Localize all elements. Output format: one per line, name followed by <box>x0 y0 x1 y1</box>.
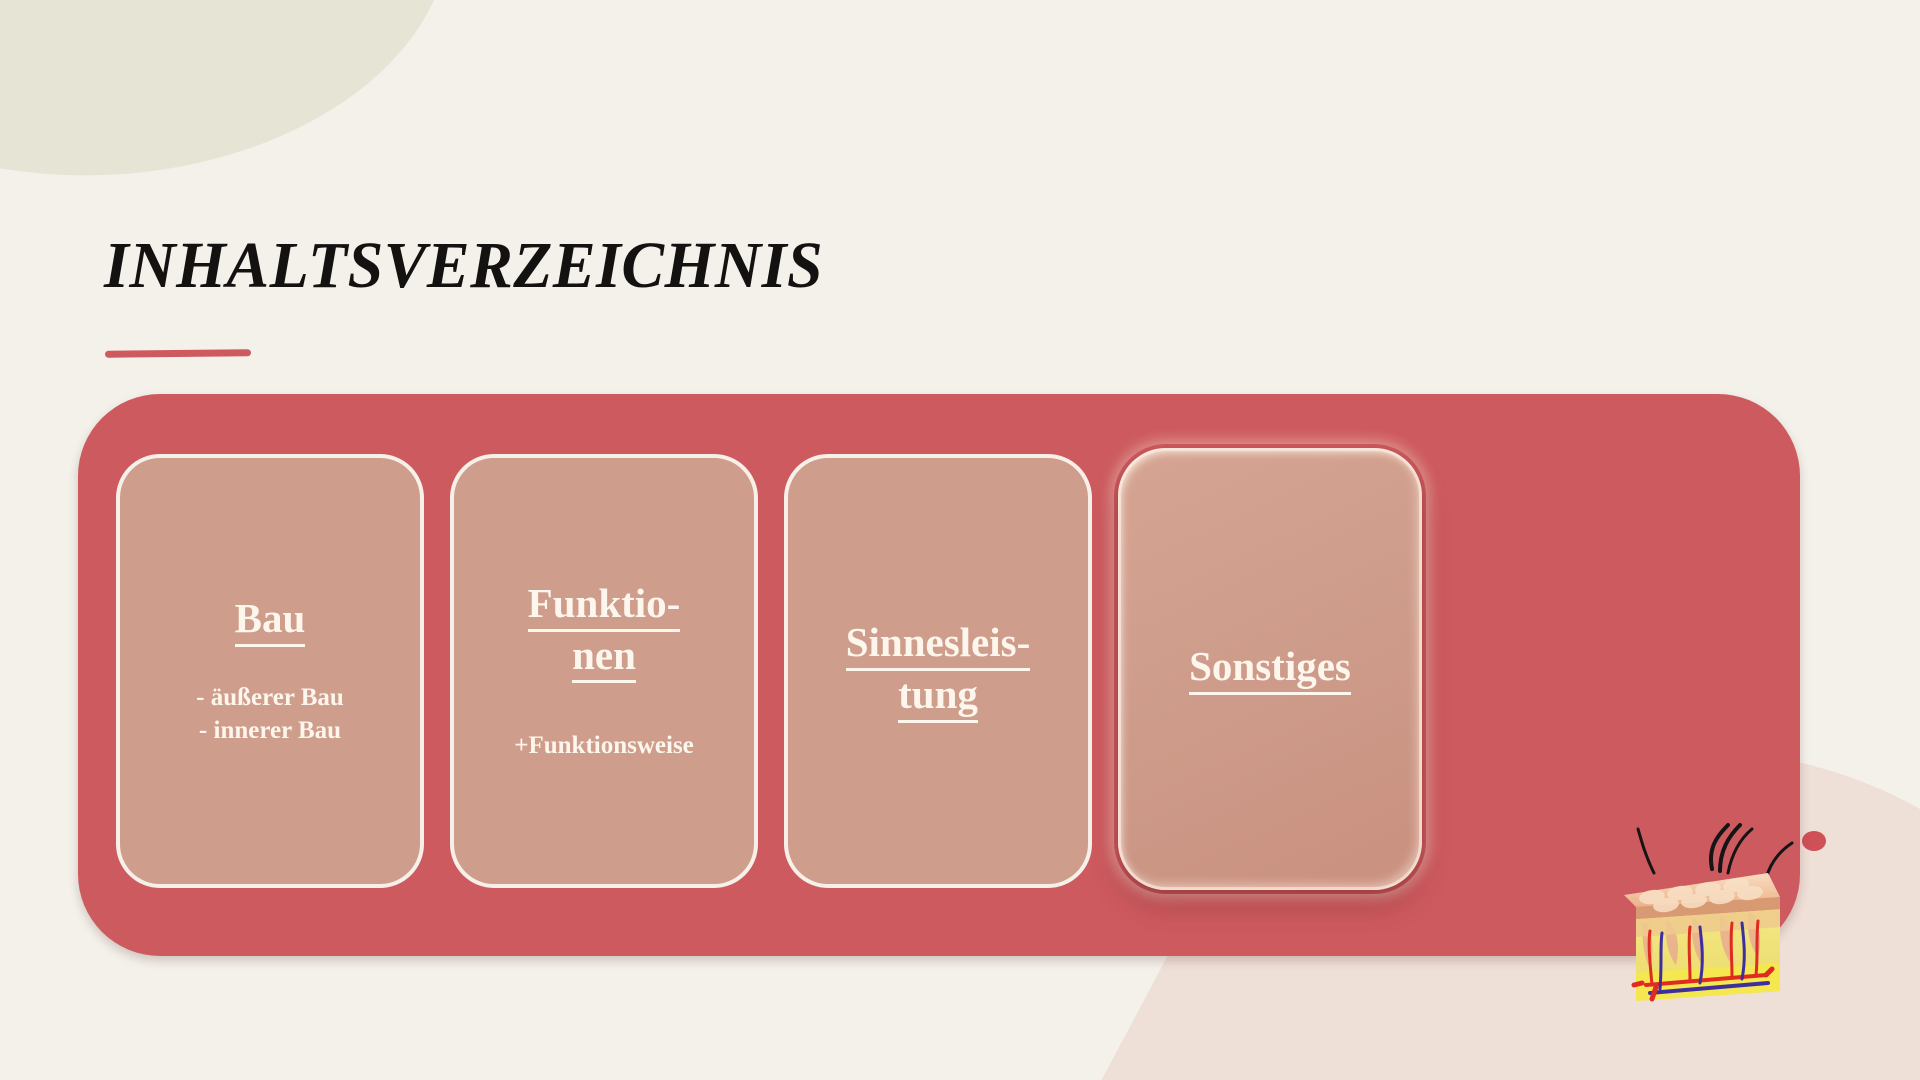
page-title: INHALTSVERZEICHNIS <box>104 228 823 304</box>
card-subtitle-bau: - äußerer Bau - innerer Bau <box>196 681 344 747</box>
hair-strands <box>1638 825 1792 879</box>
contents-card-funktionen[interactable]: Funktio- nen +Funktionsweise <box>450 454 758 888</box>
card-title-bau: Bau <box>235 595 306 647</box>
card-title-line: nen <box>572 632 636 684</box>
contents-panel: Bau - äußerer Bau - innerer Bau Funktio-… <box>78 394 1800 956</box>
contents-card-sinnesleistung[interactable]: Sinnesleis- tung <box>784 454 1092 888</box>
card-title-line: Sinnesleis- <box>846 619 1031 671</box>
title-block: INHALTSVERZEICHNIS <box>104 228 845 304</box>
card-subtitle-line: - innerer Bau <box>196 714 344 747</box>
contents-card-sonstiges[interactable]: Sonstiges <box>1118 448 1422 890</box>
title-accent-rule <box>105 349 251 358</box>
card-title-line: Sonstiges <box>1189 643 1351 695</box>
slide-canvas: INHALTSVERZEICHNIS Bau - äußerer Bau - i… <box>0 0 1920 1080</box>
card-title-sonstiges: Sonstiges <box>1189 643 1351 695</box>
card-title-line: Bau <box>235 595 306 647</box>
contents-card-row: Bau - äußerer Bau - innerer Bau Funktio-… <box>116 454 1422 890</box>
card-title-line: Funktio- <box>528 580 681 632</box>
card-subtitle-funktionen: +Funktionsweise <box>514 729 694 762</box>
card-subtitle-line: - äußerer Bau <box>196 681 344 714</box>
card-title-funktionen: Funktio- nen <box>528 580 681 684</box>
decor-olive-ellipse <box>0 0 462 193</box>
contents-card-bau[interactable]: Bau - äußerer Bau - innerer Bau <box>116 454 424 888</box>
card-subtitle-line: +Funktionsweise <box>514 729 694 762</box>
skin-cross-section-illustration <box>1616 823 1830 1028</box>
card-title-sinnesleistung: Sinnesleis- tung <box>846 619 1031 723</box>
card-title-line: tung <box>898 671 978 723</box>
